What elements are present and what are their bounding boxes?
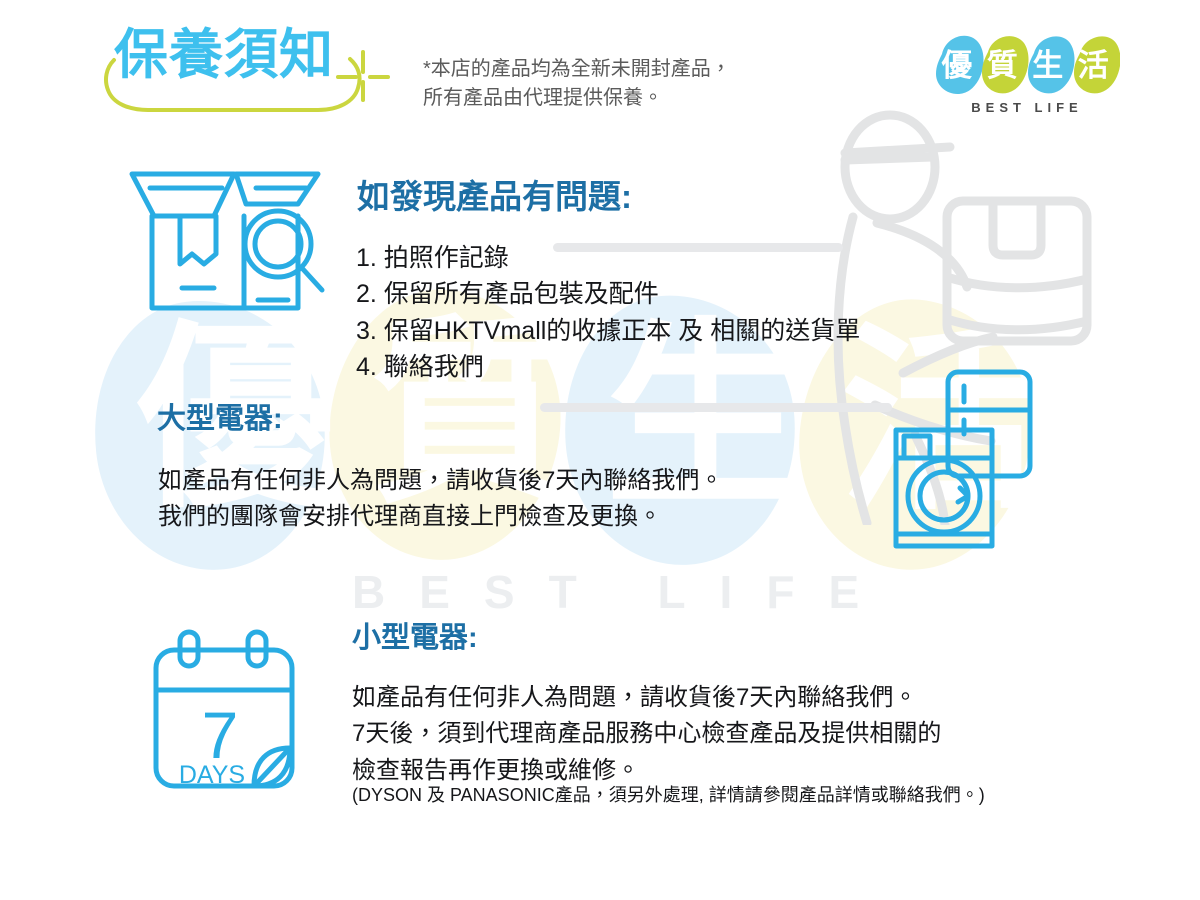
header-note: *本店的產品均為全新未開封產品， 所有產品由代理提供保養。 <box>423 55 731 113</box>
logo-char-4: 活 <box>1071 50 1117 81</box>
page-title: 保養須知 <box>114 28 334 82</box>
sparkle-plus-icon <box>332 46 394 108</box>
open-box-with-magnifier-icon <box>126 166 326 316</box>
watermark-bestlife-text: BEST LIFE <box>352 565 893 619</box>
maintenance-notice-page: 優 質 生 活 BEST LIFE <box>0 0 1200 900</box>
small-appliance-heading: 小型電器: <box>352 624 478 653</box>
small-appliance-body: 如產品有任何非人為問題，請收貨後7天內聯絡我們。 7天後，須到代理商產品服務中心… <box>352 680 941 789</box>
large-appliance-body: 如產品有任何非人為問題，請收貨後7天內聯絡我們。 我們的團隊會安排代理商直接上門… <box>158 463 723 536</box>
logo-char-1: 優 <box>934 50 980 81</box>
large-appliance-heading: 大型電器: <box>157 405 283 434</box>
calendar-unit: DAYS <box>179 761 245 789</box>
divider-line-2 <box>540 403 892 412</box>
watermark-blob-1 <box>82 289 339 582</box>
logo-subtitle: BEST LIFE <box>936 100 1118 115</box>
logo-char-2: 質 <box>980 50 1026 81</box>
logo-char-3: 生 <box>1025 50 1071 81</box>
washing-machine-and-fridge-icon <box>890 368 1065 558</box>
page-title-block: 保養須知 <box>100 28 390 116</box>
logo-characters-row: 優 質 生 活 <box>930 28 1120 104</box>
small-appliance-footnote: (DYSON 及 PANASONIC產品，須另外處理, 詳情請參閱產品詳情或聯絡… <box>352 784 985 807</box>
calendar-7-days-icon: 7 DAYS <box>150 628 310 793</box>
best-life-logo: 優 質 生 活 BEST LIFE <box>930 28 1120 120</box>
problem-section-heading: 如發現產品有問題: <box>357 180 632 213</box>
problem-steps-list: 1. 拍照作記錄 2. 保留所有產品包裝及配件 3. 保留HKTVmall的收據… <box>356 240 860 385</box>
